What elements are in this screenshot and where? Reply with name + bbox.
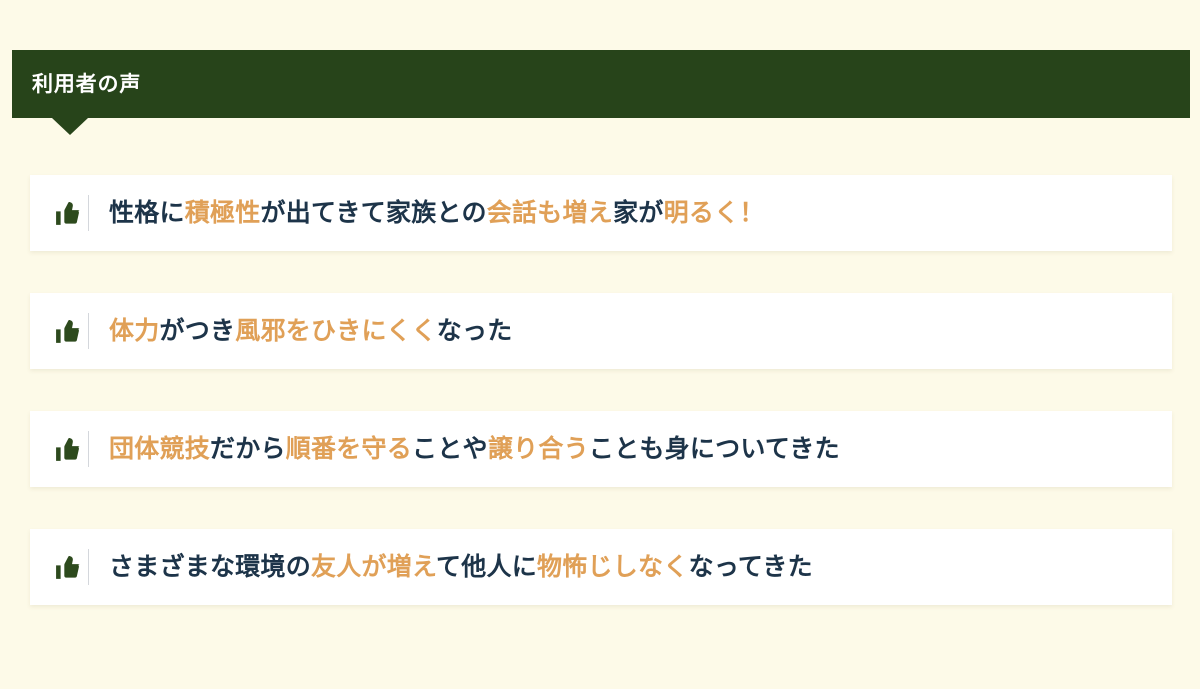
testimonial-text: 性格に積極性が出てきて家族との会話も増え家が明るく！ (109, 198, 765, 228)
highlighted-phrase: 明るく！ (664, 199, 765, 227)
thumbs-up-icon (48, 200, 88, 226)
plain-phrase: がつき (160, 317, 236, 345)
thumbs-up-icon (48, 436, 88, 462)
plain-phrase: が出てきて家族との (261, 199, 487, 227)
highlighted-phrase: 体力 (109, 317, 160, 345)
page-title: 利用者の声 (12, 74, 141, 95)
highlighted-phrase: 風邪をひきにくく (235, 317, 437, 345)
testimonial-list: 性格に積極性が出てきて家族との会話も増え家が明るく！体力がつき風邪をひきにくくな… (30, 175, 1172, 605)
card-divider (88, 195, 89, 231)
highlighted-phrase: 物怖じしなく (537, 553, 689, 581)
testimonial-text: 体力がつき風邪をひきにくくなった (109, 316, 513, 346)
thumbs-up-icon (48, 554, 88, 580)
testimonial-text: 団体競技だから順番を守ることや譲り合うことも身についてきた (109, 434, 840, 464)
plain-phrase: だから (210, 435, 286, 463)
card-divider (88, 431, 89, 467)
testimonial-card: 団体競技だから順番を守ることや譲り合うことも身についてきた (30, 411, 1172, 487)
plain-phrase: て他人に (436, 553, 537, 581)
highlighted-phrase: 団体競技 (109, 435, 210, 463)
plain-phrase: なった (437, 317, 513, 345)
plain-phrase: ことや (412, 435, 488, 463)
card-divider (88, 549, 89, 585)
testimonial-card: さまざまな環境の友人が増えて他人に物怖じしなくなってきた (30, 529, 1172, 605)
highlighted-phrase: 友人が増え (311, 553, 436, 581)
highlighted-phrase: 譲り合う (488, 435, 589, 463)
plain-phrase: なってきた (689, 553, 813, 581)
plain-phrase: 性格に (109, 199, 185, 227)
testimonials-page: 利用者の声 性格に積極性が出てきて家族との会話も増え家が明るく！体力がつき風邪を… (0, 0, 1200, 689)
highlighted-phrase: 積極性 (185, 199, 261, 227)
triangle-down-icon (52, 118, 88, 135)
thumbs-up-icon (48, 318, 88, 344)
section-header: 利用者の声 (12, 50, 1190, 118)
card-divider (88, 313, 89, 349)
testimonial-text: さまざまな環境の友人が増えて他人に物怖じしなくなってきた (109, 552, 813, 582)
highlighted-phrase: 会話も増え (487, 199, 613, 227)
highlighted-phrase: 順番を守る (286, 435, 412, 463)
testimonial-card: 体力がつき風邪をひきにくくなった (30, 293, 1172, 369)
plain-phrase: ことも身についてきた (589, 435, 840, 463)
plain-phrase: さまざまな環境の (109, 553, 311, 581)
plain-phrase: 家が (613, 199, 664, 227)
testimonial-card: 性格に積極性が出てきて家族との会話も増え家が明るく！ (30, 175, 1172, 251)
